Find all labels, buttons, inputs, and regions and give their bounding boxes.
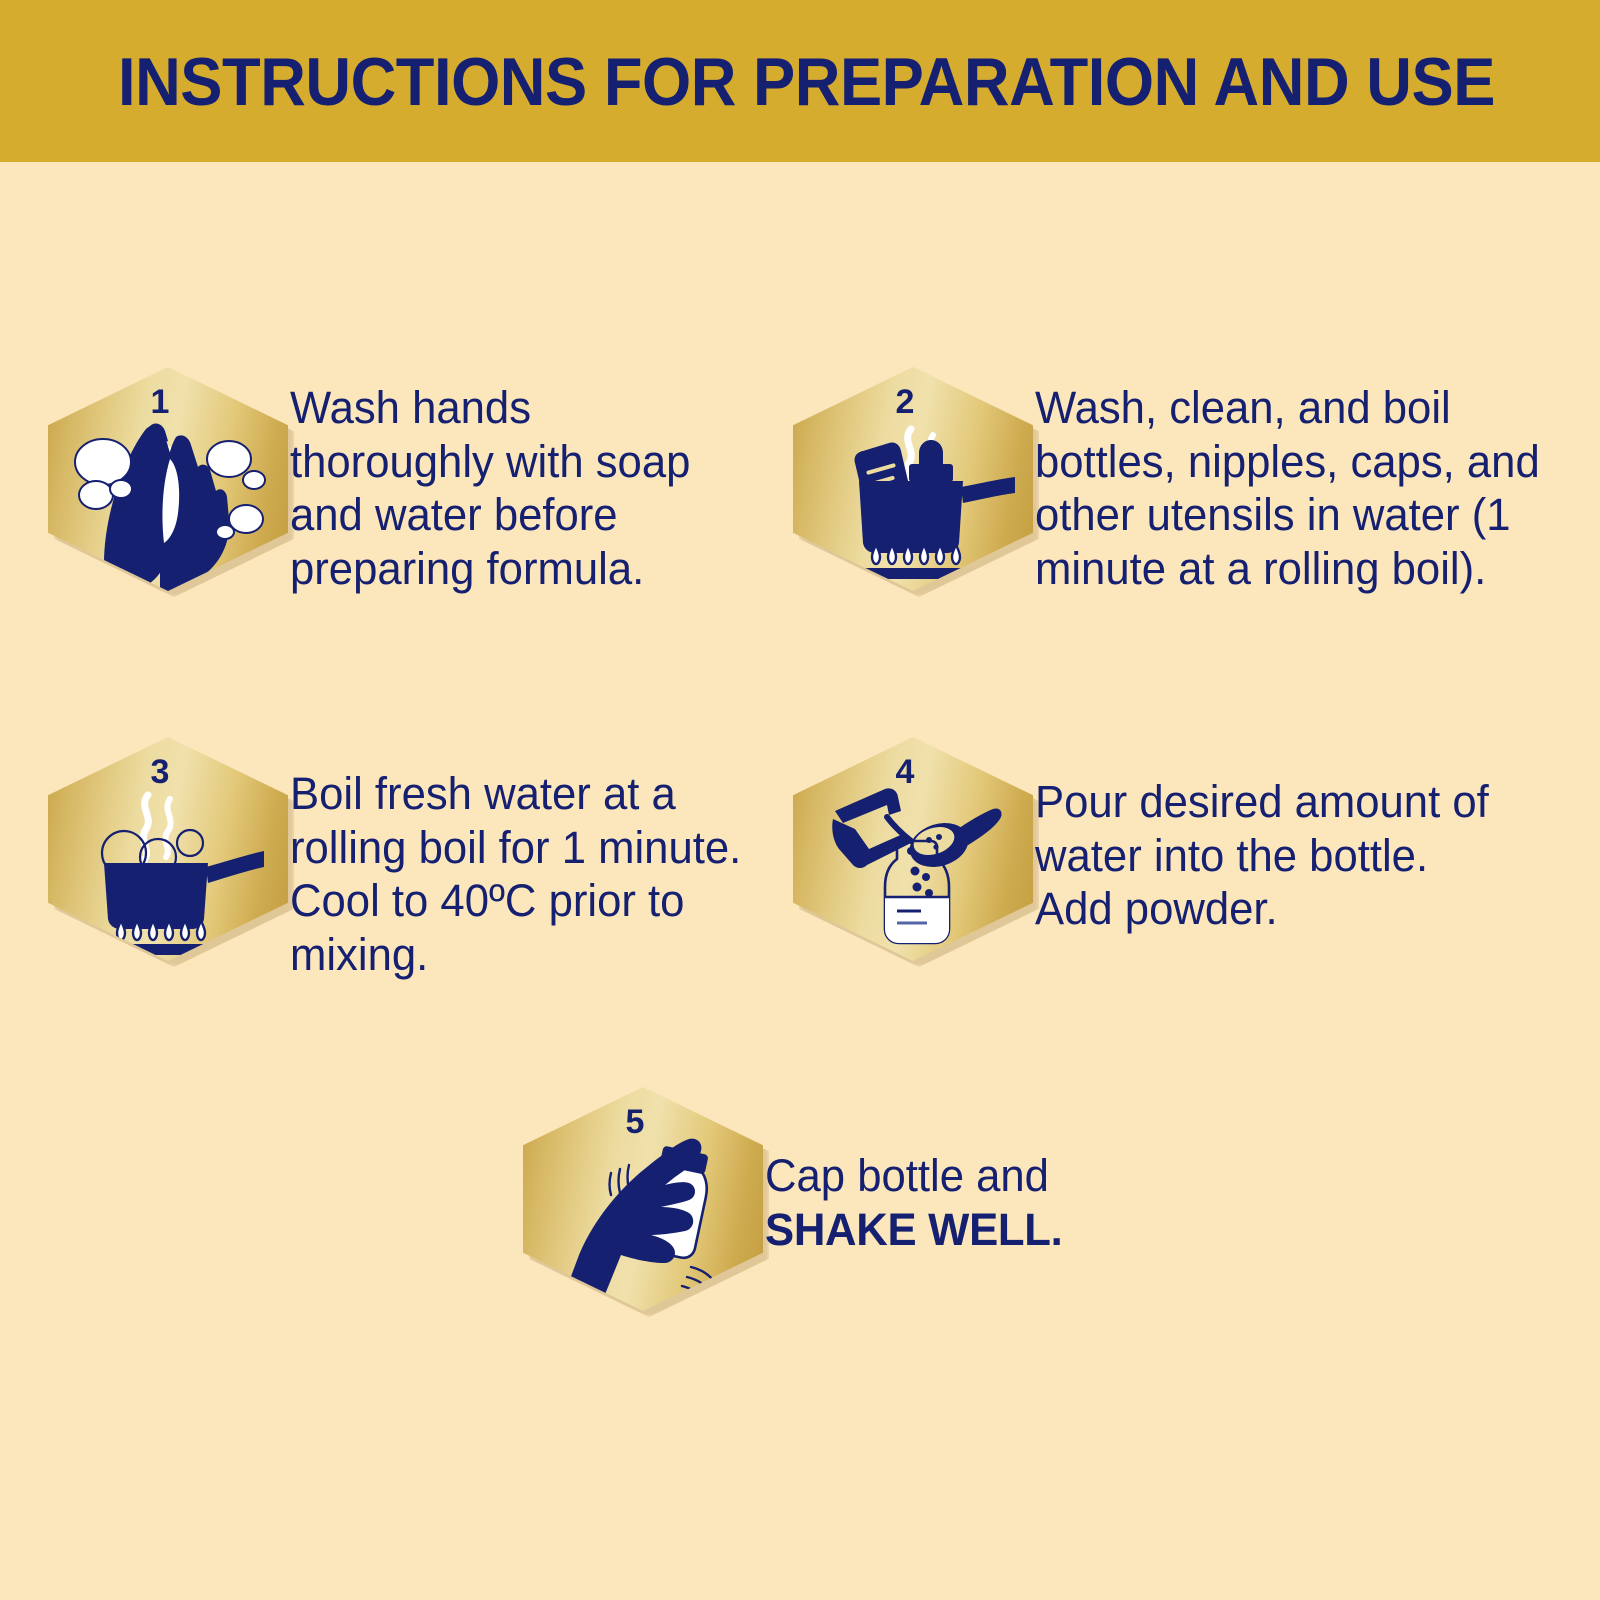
step-4-text: Pour desired amount of water into the bo…: [1035, 737, 1491, 936]
step-2-text: Wash, clean, and boil bottles, nipples, …: [1035, 367, 1559, 595]
step-3-hexagon: 3: [40, 737, 290, 967]
step-1-hexagon: 1: [40, 367, 290, 597]
washing-hands-icon: [48, 367, 288, 591]
step-item-1: 1: [40, 367, 770, 597]
header-band: INSTRUCTIONS FOR PREPARATION AND USE: [0, 0, 1600, 162]
step-item-5: 5: [515, 1087, 1215, 1317]
steps-container: 1: [0, 162, 1600, 1600]
pour-water-add-powder-icon: [793, 737, 1033, 961]
step-5-text-normal: Cap bottle and: [765, 1150, 1049, 1201]
boiling-bottles-pot-icon: [793, 367, 1033, 591]
boiling-water-pot-icon: [48, 737, 288, 961]
step-item-4: 4: [785, 737, 1545, 967]
step-item-2: 2: [785, 367, 1575, 597]
step-4-hexagon: 4: [785, 737, 1035, 967]
step-2-hexagon: 2: [785, 367, 1035, 597]
step-3-text: Boil fresh water at a rolling boil for 1…: [290, 737, 765, 981]
step-item-3: 3: [40, 737, 780, 981]
step-5-text-bold: SHAKE WELL.: [765, 1204, 1063, 1255]
step-5-text: Cap bottle and SHAKE WELL.: [765, 1087, 1172, 1256]
step-5-hexagon: 5: [515, 1087, 765, 1317]
shaking-bottle-hand-icon: [523, 1087, 763, 1311]
step-1-text: Wash hands thoroughly with soap and wate…: [290, 367, 746, 595]
page-title: INSTRUCTIONS FOR PREPARATION AND USE: [118, 48, 1495, 116]
